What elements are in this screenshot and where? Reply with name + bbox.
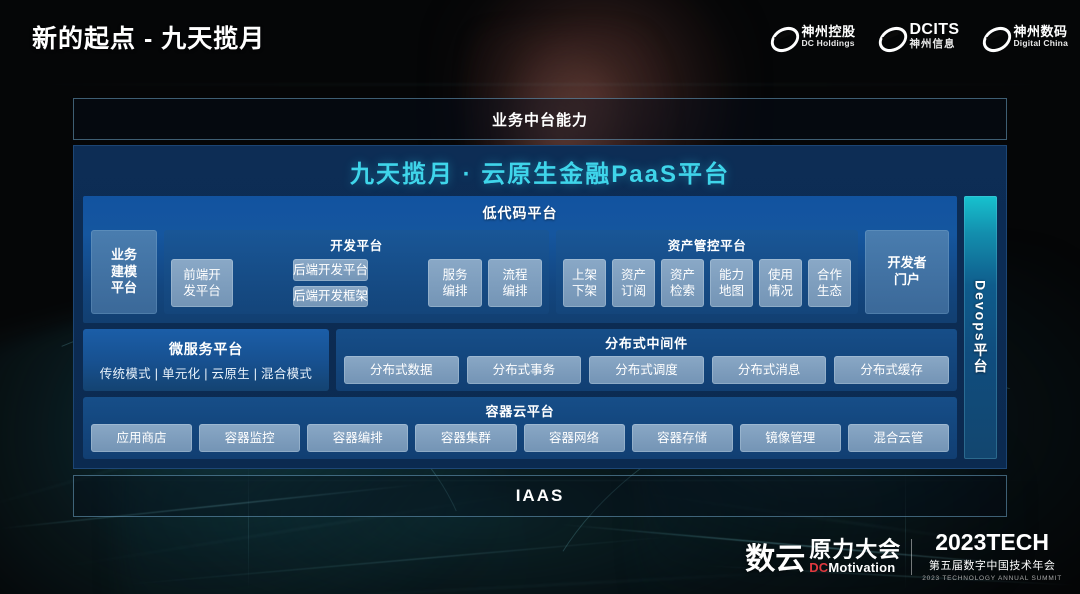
asset-chip-row: 上架 下架 资产 订阅 资产 检索 能力 地图 使用 情况 合作 生态 [563,259,851,307]
light-streak [121,536,679,586]
logo-en-text: 神州信息 [909,39,959,50]
lowcode-platform-title: 低代码平台 [91,202,949,230]
asset-control-platform-title: 资产管控平台 [563,233,851,259]
asset-chip-capability-map[interactable]: 能力 地图 [710,259,753,307]
logo-group: 神州控股 DC Holdings DCITS 神州信息 神州数码 Digital… [769,22,1068,50]
logo-cn-text: 神州控股 [801,25,855,38]
backend-dev-framework-chip[interactable]: 后端开发框架 [293,286,368,308]
development-platform-title: 开发平台 [171,233,542,259]
logo-cn-text: 神州数码 [1013,25,1068,38]
conference-logo: 数云 原力大会 DCMotivation 2023TECH 第五届数字中国技术年… [745,531,1062,582]
devops-platform-bar[interactable]: Devops平台 [964,196,997,459]
devops-platform-label: Devops平台 [971,280,991,375]
developer-portal-tile[interactable]: 开发者 门户 [865,230,949,314]
middleware-chip-messaging[interactable]: 分布式消息 [712,356,827,384]
container-chip-monitoring[interactable]: 容器监控 [199,424,300,452]
asset-chip-listing[interactable]: 上架 下架 [563,259,606,307]
asset-control-platform-group: 资产管控平台 上架 下架 资产 订阅 资产 检索 能力 地图 使用 情况 合作 … [556,230,858,314]
backend-chip-stack: 后端开发平台 后端开发框架 [239,259,422,307]
middleware-chip-data[interactable]: 分布式数据 [344,356,459,384]
conference-logo-mark: 数云 [745,545,805,575]
service-orchestration-chip[interactable]: 服务 编排 [428,259,482,307]
slide-canvas: 新的起点 - 九天揽月 神州控股 DC Holdings DCITS 神州信息 [0,0,1080,594]
middleware-chip-scheduling[interactable]: 分布式调度 [589,356,704,384]
page-title: 新的起点 - 九天揽月 [32,19,265,55]
logo-cn-text: DCITS [909,22,959,38]
divider [911,539,912,575]
architecture-diagram: 业务中台能力 九天揽月 · 云原生金融PaaS平台 低代码平台 业务 建模 平台… [73,98,1007,517]
development-platform-group: 开发平台 前端开 发平台 后端开发平台 后端开发框架 服务 编排 流程 编排 [164,230,549,314]
conference-name-en: DCMotivation [809,561,901,575]
asset-chip-usage[interactable]: 使用 情况 [759,259,802,307]
dc-swoosh-icon [877,25,903,48]
conference-en-motivation: Motivation [828,560,895,575]
conference-name-cn: 原力大会 [809,538,901,561]
slide-header: 新的起点 - 九天揽月 神州控股 DC Holdings DCITS 神州信息 [0,0,1080,68]
microservice-platform-modes: 传统模式 | 单元化 | 云原生 | 混合模式 [100,363,312,382]
conference-en-dc: DC [809,560,828,575]
backend-dev-platform-chip[interactable]: 后端开发平台 [293,259,368,281]
digital-china-logo: 神州数码 Digital China [981,25,1068,48]
container-cloud-title: 容器云平台 [91,399,949,424]
dcits-logo: DCITS 神州信息 [877,22,959,50]
logo-en-text: Digital China [1013,39,1068,48]
microservice-platform-title: 微服务平台 [169,339,243,359]
paas-platform-title: 九天揽月 · 云原生金融PaaS平台 [74,146,1006,196]
middleware-chip-cache[interactable]: 分布式缓存 [834,356,949,384]
container-chip-cluster[interactable]: 容器集群 [415,424,516,452]
container-chip-image-mgmt[interactable]: 镜像管理 [740,424,841,452]
asset-chip-ecosystem[interactable]: 合作 生态 [808,259,851,307]
dc-swoosh-icon [981,25,1007,48]
frontend-dev-platform-chip[interactable]: 前端开 发平台 [171,259,233,307]
asset-chip-search[interactable]: 资产 检索 [661,259,704,307]
container-chip-storage[interactable]: 容器存储 [632,424,733,452]
business-modeling-platform-tile[interactable]: 业务 建模 平台 [91,230,157,314]
process-orchestration-chip[interactable]: 流程 编排 [488,259,542,307]
paas-platform-block: 九天揽月 · 云原生金融PaaS平台 低代码平台 业务 建模 平台 开发平台 前… [73,145,1007,469]
distributed-middleware-title: 分布式中间件 [344,331,949,356]
container-chip-network[interactable]: 容器网络 [524,424,625,452]
container-chip-hybrid-cloud[interactable]: 混合云管 [848,424,949,452]
dc-holdings-logo: 神州控股 DC Holdings [769,25,855,48]
container-cloud-block: 容器云平台 应用商店 容器监控 容器编排 容器集群 容器网络 容器存储 镜像管理… [83,397,957,459]
container-chip-app-store[interactable]: 应用商店 [91,424,192,452]
distributed-middleware-block: 分布式中间件 分布式数据 分布式事务 分布式调度 分布式消息 分布式缓存 [336,329,957,391]
conference-subtitle-en: 2023 TECHNOLOGY ANNUAL SUMMIT [922,575,1062,582]
business-middle-platform-band: 业务中台能力 [73,98,1007,140]
iaas-band: IAAS [73,475,1007,517]
dc-swoosh-icon [769,25,795,48]
microservice-platform-block[interactable]: 微服务平台 传统模式 | 单元化 | 云原生 | 混合模式 [83,329,329,391]
conference-year-tech: 2023TECH [935,531,1049,554]
logo-en-text: DC Holdings [801,39,855,48]
conference-subtitle-cn: 第五届数字中国技术年会 [929,557,1056,573]
light-streak [0,84,1080,85]
lowcode-platform-section: 低代码平台 业务 建模 平台 开发平台 前端开 发平台 后端开发平台 后端开发框… [83,196,957,323]
container-chip-orchestration[interactable]: 容器编排 [307,424,408,452]
middleware-chip-transaction[interactable]: 分布式事务 [467,356,582,384]
asset-chip-subscription[interactable]: 资产 订阅 [612,259,655,307]
